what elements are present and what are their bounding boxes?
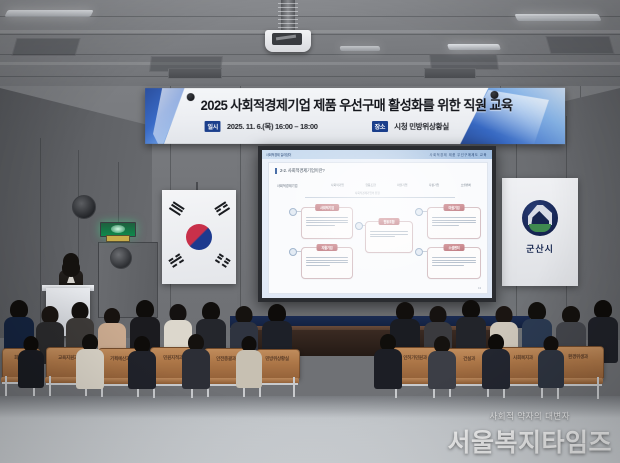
city-emblem-banner: 군산시 bbox=[502, 178, 578, 286]
slide-node-text bbox=[432, 217, 476, 227]
slide-title: 2-2. 사회적경제기업이란? bbox=[275, 168, 325, 174]
trigram-gam-icon bbox=[214, 201, 230, 216]
audience-member bbox=[76, 334, 104, 386]
banner-place-chip: 장소 bbox=[372, 121, 388, 132]
slide-node: 협동조합 bbox=[365, 221, 413, 253]
slide-topbar-right-text: 사회적경제 제품 우선구매제도 교육 bbox=[430, 152, 487, 157]
audience-member bbox=[236, 336, 262, 386]
chair[interactable]: 민방위상황실 bbox=[256, 349, 298, 377]
slide-chip: 사회적기업 bbox=[331, 183, 344, 187]
presenter-hair-side bbox=[62, 261, 80, 277]
slide-chip: 자활기업 bbox=[429, 183, 439, 187]
chair-placard: 교육지원과 bbox=[58, 355, 78, 361]
slide-node: 소셜벤처 bbox=[427, 247, 481, 279]
chair-placard: 안전총괄과 bbox=[216, 356, 236, 362]
trigram-gon-icon bbox=[214, 253, 230, 268]
slide-underline-label: 사회적경제기업의 유형 bbox=[355, 191, 380, 195]
trigram-geon-icon bbox=[168, 201, 184, 216]
photo-scene: 2025 사회적경제기업 제품 우선구매 활성화를 위한 직원 교육 일시 20… bbox=[0, 0, 620, 463]
wall-speaker-icon bbox=[72, 195, 96, 219]
slide-node-icon bbox=[415, 208, 423, 216]
chair-placard: 사회복지과 bbox=[513, 355, 533, 361]
trigram-ri-icon bbox=[168, 253, 184, 268]
slide-node-title: 소셜벤처 bbox=[444, 244, 465, 251]
audience-member bbox=[482, 334, 510, 386]
ceiling-panel bbox=[545, 36, 614, 54]
banner-datetime-text: 2025. 11. 6.(목) 16:00 – 18:00 bbox=[227, 121, 318, 132]
ceiling-light bbox=[340, 46, 381, 51]
projector-mount bbox=[281, 0, 295, 32]
ceiling-light bbox=[514, 14, 601, 21]
slide-node-title: 협동조합 bbox=[379, 218, 400, 225]
audience-member bbox=[128, 336, 156, 386]
chair-placard: 인허가민원과 bbox=[403, 355, 427, 361]
exit-sign-glow bbox=[111, 225, 125, 233]
slide-page-number: 13 bbox=[478, 287, 481, 290]
ceiling-light bbox=[447, 44, 501, 50]
slide-node-title: 사회적기업 bbox=[315, 204, 339, 211]
wall-speaker-icon bbox=[110, 247, 132, 269]
projection-screen: 사회적경제 길라잡이 사회적경제 제품 우선구매제도 교육 2-2. 사회적경제… bbox=[262, 150, 492, 298]
projector-lens-housing bbox=[272, 33, 302, 45]
chair-placard: 민방위상황실 bbox=[265, 356, 289, 362]
audience-member bbox=[538, 336, 564, 386]
slide-node-icon bbox=[289, 208, 297, 216]
banner-subline: 일시 2025. 11. 6.(목) 16:00 – 18:00 장소 시청 민… bbox=[205, 121, 525, 132]
exit-sign-base bbox=[106, 235, 130, 242]
banner-title: 2025 사회적경제기업 제품 우선구매 활성화를 위한 직원 교육 bbox=[188, 94, 526, 114]
korean-flag bbox=[162, 190, 236, 284]
ceiling-vent bbox=[168, 68, 222, 79]
ceiling-vent bbox=[424, 68, 476, 79]
city-emblem-label: 군산시 bbox=[502, 242, 578, 255]
slide-chip-row: 사회적기업 협동조합 마을기업 자활기업 소셜벤처 bbox=[331, 183, 471, 187]
audience-member bbox=[182, 334, 210, 386]
slide-chip: 마을기업 bbox=[397, 183, 407, 187]
event-banner: 2025 사회적경제기업 제품 우선구매 활성화를 위한 직원 교육 일시 20… bbox=[145, 88, 565, 144]
slide-body: 2-2. 사회적경제기업이란? 사회적경제기업 사회적기업 협동조합 마을기업 … bbox=[268, 162, 488, 294]
audience-member bbox=[18, 336, 44, 386]
slide-node-title: 자활기업 bbox=[317, 244, 338, 251]
slide-node-icon bbox=[415, 248, 423, 256]
chair-back bbox=[256, 349, 300, 379]
slide-sublabel: 사회적경제기업 bbox=[277, 183, 298, 188]
chair-placard: 건설과 bbox=[463, 356, 475, 362]
slide-underline bbox=[305, 197, 455, 198]
slide-topbar-left-text: 사회적경제 길라잡이 bbox=[266, 152, 291, 157]
taegeuk-icon bbox=[186, 224, 212, 250]
floor-shadow bbox=[0, 396, 620, 418]
chair-placard: 기획예산과 bbox=[110, 356, 130, 362]
ceiling bbox=[0, 0, 620, 96]
slide-node-title: 마을기업 bbox=[444, 204, 465, 211]
audience-member bbox=[374, 334, 402, 386]
slide-node-text bbox=[370, 231, 408, 239]
slide-chip: 소셜벤처 bbox=[461, 183, 471, 187]
chair-rail bbox=[256, 383, 298, 385]
slide-node-icon bbox=[355, 222, 363, 230]
slide-node-icon bbox=[289, 248, 297, 256]
chair-placard: 민원지적과 bbox=[163, 355, 183, 361]
slide-node-text bbox=[306, 217, 348, 227]
slide-node: 사회적기업 bbox=[301, 207, 353, 239]
slide-chip: 협동조합 bbox=[365, 183, 375, 187]
banner-datetime-chip: 일시 bbox=[205, 121, 221, 132]
ceiling-panel bbox=[11, 38, 80, 56]
slide-node: 자활기업 bbox=[301, 247, 353, 279]
audience-member bbox=[428, 336, 456, 386]
slide-node-text bbox=[432, 257, 476, 267]
slide-node: 마을기업 bbox=[427, 207, 481, 239]
chair-placard: 환경위생과 bbox=[568, 354, 588, 360]
slide-node-text bbox=[306, 257, 348, 267]
banner-place-text: 시청 민방위상황실 bbox=[394, 121, 449, 132]
ceiling-light bbox=[4, 10, 93, 17]
